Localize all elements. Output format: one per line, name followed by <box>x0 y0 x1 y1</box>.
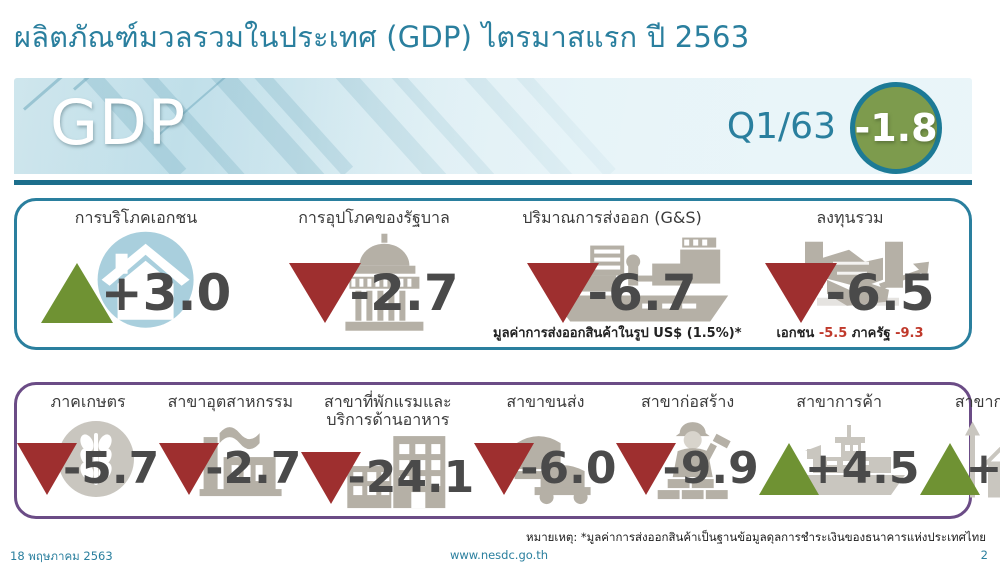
metric-value: -2.7 <box>205 447 301 491</box>
metric-value: -6.5 <box>825 268 934 318</box>
metric-label: การบริโภคเอกชน <box>75 209 197 227</box>
footer-date: 18 พฤษภาคม 2563 <box>10 548 113 566</box>
metric-finance: สาขาการเงิน <box>920 385 1000 516</box>
metric-label: สาขาขนส่ง <box>506 393 584 411</box>
metric-value: -6.0 <box>520 447 616 491</box>
page-title: ผลิตภัณฑ์มวลรวมในประเทศ (GDP) ไตรมาสแรก … <box>14 14 749 60</box>
metric-value: -9.9 <box>662 447 758 491</box>
metric-value: -5.7 <box>63 447 159 491</box>
metric-government-consumption: การอุปโภคของรัฐบาล <box>255 201 493 347</box>
metric-value: +4.5 <box>805 447 920 491</box>
metric-transport: สาขาขนส่ง <box>474 385 616 516</box>
sector-panel: ภาคเกษตร <box>14 382 972 519</box>
banner-divider <box>14 180 972 185</box>
metric-industry: สาขาอุตสาหกรรม <box>159 385 301 516</box>
gdp-value-badge: -1.8 <box>850 82 942 174</box>
gdp-banner: GDP Q1/63 -1.8 <box>14 78 972 174</box>
metric-label: ลงทุนรวม <box>816 209 883 227</box>
metric-exports: ปริมาณการส่งออก (G&S) <box>493 201 731 347</box>
metric-label: ภาคเกษตร <box>51 393 126 411</box>
quarter-label: Q1/63 <box>727 106 836 147</box>
metric-value: -2.7 <box>349 268 458 318</box>
metric-label: สาขาการเงิน <box>955 393 1000 411</box>
metric-label: สาขาที่พักแรมและ บริการด้านอาหาร <box>324 393 452 429</box>
metric-value: -6.7 <box>587 268 696 318</box>
metric-agriculture: ภาคเกษตร <box>17 385 159 516</box>
metric-label: สาขาการค้า <box>796 393 882 411</box>
metric-value: +4.5 <box>966 447 1000 491</box>
metric-hotels-restaurants: สาขาที่พักแรมและ บริการด้านอาหาร <box>301 385 474 516</box>
investment-sub-label: เอกชน -5.5 ภาครัฐ -9.3 <box>731 322 969 343</box>
metric-label: ปริมาณการส่งออก (G&S) <box>522 209 701 227</box>
footer-page-number: 2 <box>981 548 988 562</box>
metric-value: -24.1 <box>347 456 474 500</box>
metric-construction: สาขาก่อสร้าง <box>616 385 758 516</box>
metric-private-consumption: การบริโภคเอกชน +3.0 <box>17 201 255 347</box>
expenditure-panel: การบริโภคเอกชน +3.0 การอุปโภคของร <box>14 198 972 350</box>
metric-trade: สาขาการค้า <box>759 385 920 516</box>
investment-private-value: -5.5 <box>819 326 847 341</box>
metric-label: สาขาก่อสร้าง <box>641 393 734 411</box>
banner-logo-text: GDP <box>50 86 186 159</box>
footer-website-link[interactable]: www.nesdc.go.th <box>450 548 548 562</box>
footnote: หมายเหตุ: *มูลค่าการส่งออกสินค้าเป็นฐานข… <box>526 529 986 547</box>
investment-public-label: ภาครัฐ <box>852 326 891 341</box>
investment-private-label: เอกชน <box>776 326 814 341</box>
metric-total-investment: ลงทุนรวม <box>731 201 969 347</box>
metric-label: สาขาอุตสาหกรรม <box>168 393 293 411</box>
exports-sub-label: มูลค่าการส่งออกสินค้าในรูป US$ (1.5%)* <box>493 322 731 343</box>
metric-label: การอุปโภคของรัฐบาล <box>298 209 450 227</box>
metric-value: +3.0 <box>101 268 231 318</box>
investment-public-value: -9.3 <box>895 326 923 341</box>
